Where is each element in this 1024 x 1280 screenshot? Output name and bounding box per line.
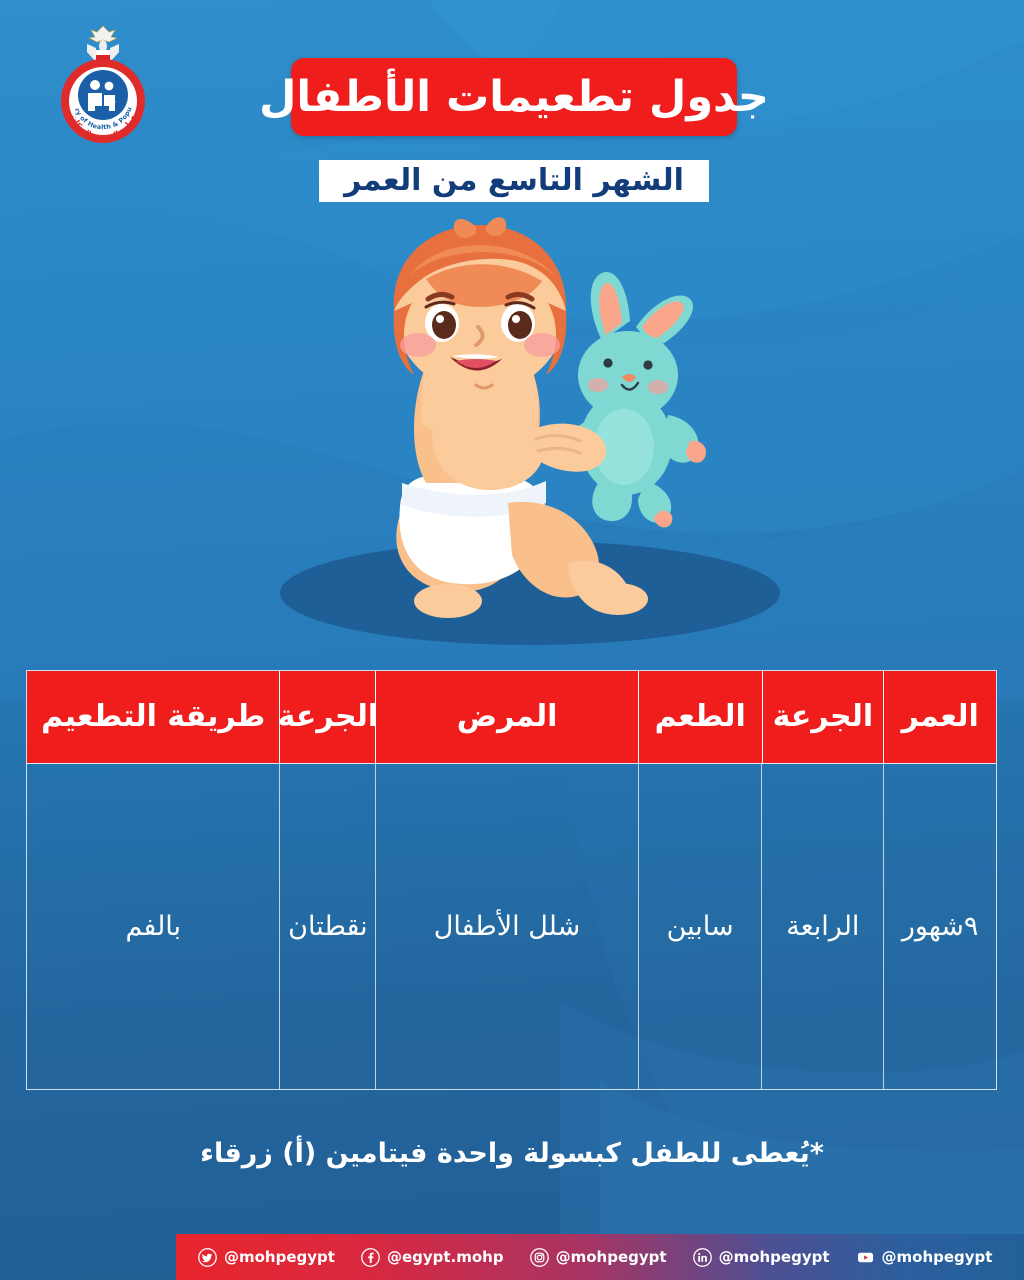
linkedin-icon — [693, 1248, 712, 1267]
page-title: جدول تطعيمات الأطفال — [259, 76, 769, 119]
table-header-dose-1: الجرعة — [762, 671, 884, 763]
social-link-linkedin[interactable]: @mohpegypt — [693, 1248, 830, 1267]
ministry-logo: Ministry of Health & Population وزارة ال… — [47, 22, 159, 146]
youtube-icon — [856, 1248, 875, 1267]
social-link-youtube[interactable]: @mohpegypt — [856, 1248, 993, 1267]
poster-subtitle-banner: الشهر التاسع من العمر — [319, 160, 709, 202]
table-header-age: العمر — [883, 671, 996, 763]
cell-dose-1: الرابعة — [761, 764, 883, 1089]
linkedin-handle: @mohpegypt — [719, 1248, 830, 1266]
instagram-icon — [530, 1248, 549, 1267]
vaccination-schedule-table: العمر الجرعة الطعم المرض الجرعة طريقة ال… — [26, 670, 997, 1090]
facebook-icon — [361, 1248, 380, 1267]
table-header-method: طريقة التطعيم — [27, 671, 279, 763]
instagram-handle: @mohpegypt — [556, 1248, 667, 1266]
social-link-twitter[interactable]: @mohpegypt — [198, 1248, 335, 1267]
table-header-dose-2: الجرعة — [279, 671, 375, 763]
baby-illustration — [250, 215, 810, 655]
bunny-plush-toy — [568, 272, 706, 527]
table-header-disease: المرض — [375, 671, 637, 763]
page-subtitle: الشهر التاسع من العمر — [344, 166, 684, 196]
cell-vaccine: سابين — [638, 764, 762, 1089]
table-header-row: العمر الجرعة الطعم المرض الجرعة طريقة ال… — [27, 671, 996, 763]
youtube-handle: @mohpegypt — [882, 1248, 993, 1266]
twitter-handle: @mohpegypt — [224, 1248, 335, 1266]
cell-method: بالفم — [27, 764, 279, 1089]
cell-dose-2: نقطتان — [279, 764, 375, 1089]
facebook-handle: @egypt.mohp — [387, 1248, 504, 1266]
vitamin-a-footnote: *يُعطى للطفل كبسولة واحدة فيتامين (أ) زر… — [0, 1138, 1024, 1169]
social-media-bar: @mohpegypt @egypt.mohp @mohpegypt — [176, 1234, 1024, 1280]
poster-title-banner: جدول تطعيمات الأطفال — [291, 58, 737, 136]
social-link-instagram[interactable]: @mohpegypt — [530, 1248, 667, 1267]
cell-disease: شلل الأطفال — [375, 764, 637, 1089]
twitter-icon — [198, 1248, 217, 1267]
cell-age: ٩شهور — [883, 764, 996, 1089]
infographic-poster: Ministry of Health & Population وزارة ال… — [0, 0, 1024, 1280]
table-row: ٩شهور الرابعة سابين شلل الأطفال نقطتان ب… — [27, 763, 996, 1089]
table-header-vaccine: الطعم — [638, 671, 762, 763]
social-link-facebook[interactable]: @egypt.mohp — [361, 1248, 504, 1267]
